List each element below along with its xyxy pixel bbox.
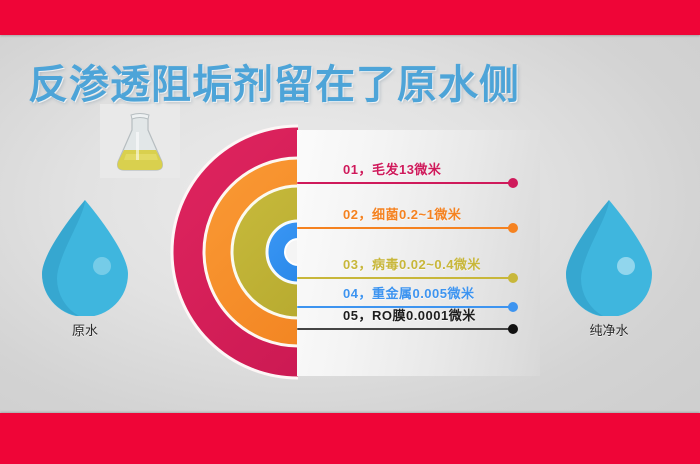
legend-leader-line-03 [297,277,513,279]
legend-dot-04 [508,302,518,312]
legend-dot-01 [508,178,518,188]
legend-list: 01，毛发13微米 02，细菌0.2~1微米 03，病毒0.02~0.4微米 0… [297,130,557,376]
bottom-red-band [0,413,700,464]
page-title: 反渗透阻垢剂留在了原水侧 [28,52,520,110]
legend-label-02: 02，细菌0.2~1微米 [343,204,461,223]
raw-water-label: 原水 [24,320,146,339]
legend-leader-line-05 [297,328,513,330]
legend-dot-03 [508,273,518,283]
legend-leader-line-01 [297,182,513,184]
chemical-flask-photo [100,104,180,178]
raw-water-droplet: 原水 [24,194,146,344]
legend-label-01: 01，毛发13微米 [343,159,441,178]
infographic-canvas: 反渗透阻垢剂留在了原水侧 [0,0,700,464]
legend-leader-line-02 [297,227,513,229]
pure-water-droplet: 纯净水 [548,194,670,344]
top-red-band [0,0,700,35]
legend-dot-02 [508,223,518,233]
legend-label-05: 05，RO膜0.0001微米 [343,305,476,324]
pure-water-label: 纯净水 [548,320,670,339]
legend-label-03: 03，病毒0.02~0.4微米 [343,254,481,273]
legend-dot-05 [508,324,518,334]
legend-label-04: 04，重金属0.005微米 [343,283,475,302]
